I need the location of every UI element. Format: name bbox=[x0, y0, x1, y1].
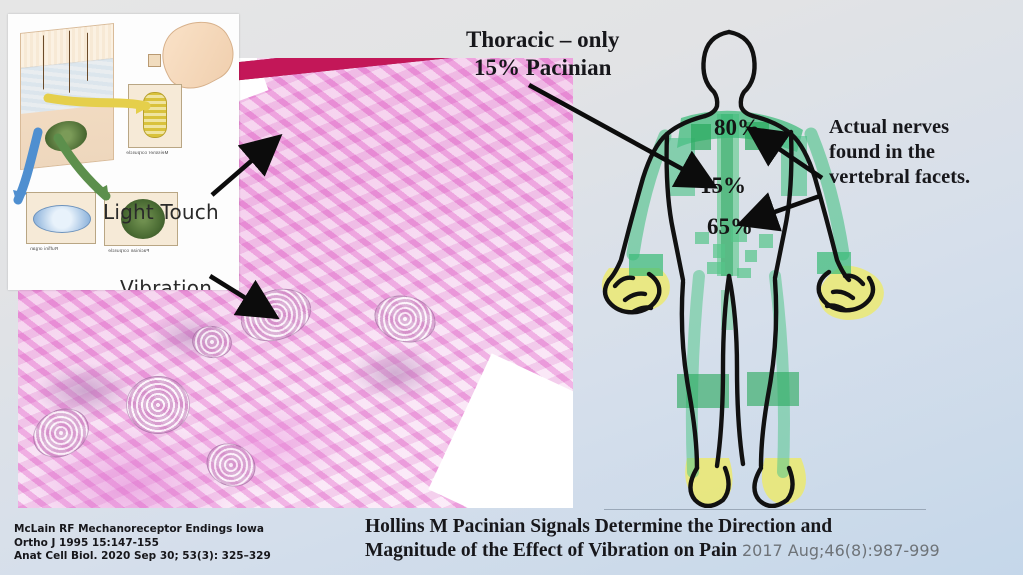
pacinian-corpuscle bbox=[126, 376, 190, 434]
main-citation-line2-wrap: Magnitude of the Effect of Vibration on … bbox=[365, 539, 1015, 563]
human-body-diagram bbox=[595, 18, 925, 508]
main-citation-volume: 2017 Aug;46(8):987-999 bbox=[742, 541, 940, 560]
nerves-annotation-line1: Actual nerves bbox=[829, 115, 970, 140]
skin-mechanoreceptor-diagram: Meissner corpuscle Ruffini organ Pacinia… bbox=[8, 14, 239, 290]
nerves-annotation-line2: found in the bbox=[829, 140, 970, 165]
blue-arrow bbox=[18, 132, 38, 200]
nerves-annotation-line3: vertebral facets. bbox=[829, 165, 970, 190]
vibration-label: Vibration bbox=[120, 276, 212, 290]
green-arrow bbox=[58, 138, 106, 196]
vertebral-facets-annotation: Actual nerves found in the vertebral fac… bbox=[829, 115, 970, 190]
diagram-arrows bbox=[8, 14, 239, 290]
percent-label-lower-thoracic: 65% bbox=[707, 214, 753, 240]
thoracic-annotation-line2: 15% Pacinian bbox=[466, 54, 619, 82]
secondary-citation: McLain RF Mechanoreceptor Endings Iowa O… bbox=[14, 523, 271, 564]
light-touch-label: Light Touch bbox=[103, 200, 219, 224]
percent-label-upper-thoracic: 80% bbox=[714, 115, 760, 141]
secondary-citation-line1: McLain RF Mechanoreceptor Endings Iowa bbox=[14, 523, 271, 537]
thoracic-annotation: Thoracic – only 15% Pacinian bbox=[466, 26, 619, 82]
thoracic-annotation-line1: Thoracic – only bbox=[466, 26, 619, 54]
percent-label-mid-thoracic: 15% bbox=[700, 173, 746, 199]
main-citation-line1: Hollins M Pacinian Signals Determine the… bbox=[365, 515, 1015, 539]
secondary-citation-line2: Ortho J 1995 15:147-155 bbox=[14, 537, 271, 551]
main-citation: Hollins M Pacinian Signals Determine the… bbox=[365, 515, 1015, 563]
yellow-arrow bbox=[48, 98, 146, 106]
secondary-citation-line3: Anat Cell Biol. 2020 Sep 30; 53(3): 325–… bbox=[14, 550, 271, 564]
slide-canvas: McLain RF Mechanoreceptor Endings Iowa O… bbox=[0, 0, 1023, 575]
main-citation-line2: Magnitude of the Effect of Vibration on … bbox=[365, 540, 737, 561]
horizontal-divider bbox=[604, 509, 926, 510]
